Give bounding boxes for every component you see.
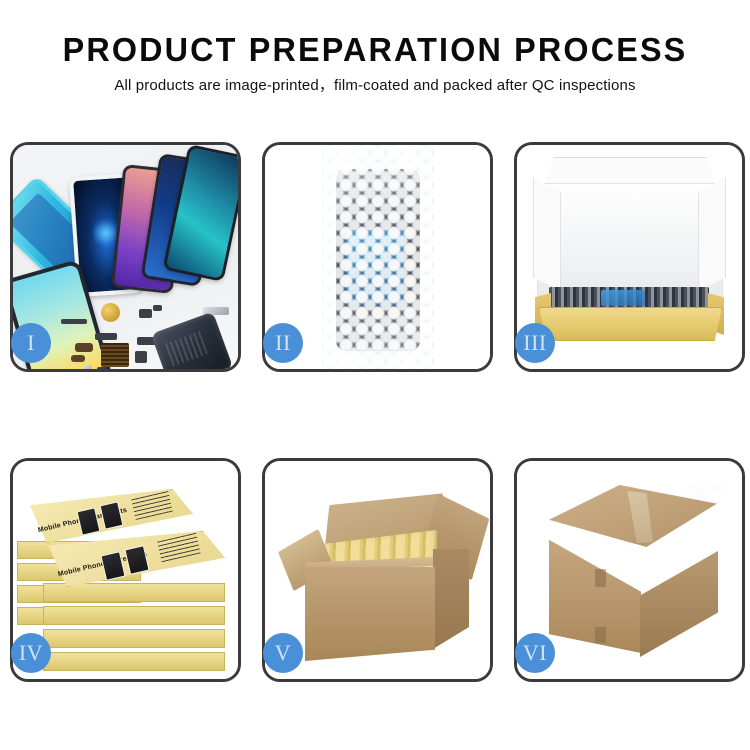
carton-seam-upper: [595, 569, 606, 587]
carton-front-face: [305, 567, 435, 661]
step-numeral-6: VI: [523, 642, 547, 664]
process-step-grid: I II: [10, 142, 745, 682]
carton-right-face: [640, 551, 718, 657]
step-numeral-4: IV: [19, 642, 43, 664]
open-mailer-box-icon: [533, 157, 726, 347]
step-numeral-1: I: [27, 332, 35, 354]
step-numeral-3: III: [523, 332, 546, 354]
step-badge-2: II: [263, 323, 303, 363]
step-badge-4: IV: [11, 633, 51, 673]
page-header: PRODUCT PREPARATION PROCESS All products…: [0, 0, 750, 98]
bubble-outline-texture: [322, 145, 434, 369]
page-title: PRODUCT PREPARATION PROCESS: [8, 30, 743, 70]
carton-seam-lower: [595, 627, 606, 643]
process-step-panel-1[interactable]: I: [10, 142, 241, 372]
retail-box-stack-icon: Mobile Phone Spare Parts Mobile Phone Sp…: [17, 479, 237, 675]
step-numeral-2: II: [275, 332, 291, 354]
process-step-panel-3[interactable]: III: [514, 142, 745, 372]
sealed-carton-icon: [537, 485, 727, 661]
step-badge-5: V: [263, 633, 303, 673]
step-badge-6: VI: [515, 633, 555, 673]
bubble-wrap-sleeve: [322, 145, 434, 369]
mailer-side-right: [698, 177, 726, 291]
step-badge-1: I: [11, 323, 51, 363]
process-step-panel-4[interactable]: Mobile Phone Spare Parts Mobile Phone Sp…: [10, 458, 241, 682]
step-badge-3: III: [515, 323, 555, 363]
open-carton-icon: [287, 483, 473, 667]
mailer-inner-back: [537, 183, 723, 301]
carton-side-right: [433, 549, 469, 649]
mailer-front-panel: [539, 307, 722, 341]
page-subtitle: All products are image-printed，film-coat…: [0, 74, 750, 98]
process-step-panel-5[interactable]: V: [262, 458, 493, 682]
mailer-side-left: [533, 177, 561, 291]
process-step-panel-6[interactable]: VI: [514, 458, 745, 682]
process-step-panel-2[interactable]: II: [262, 142, 493, 372]
step-numeral-5: V: [275, 642, 291, 664]
